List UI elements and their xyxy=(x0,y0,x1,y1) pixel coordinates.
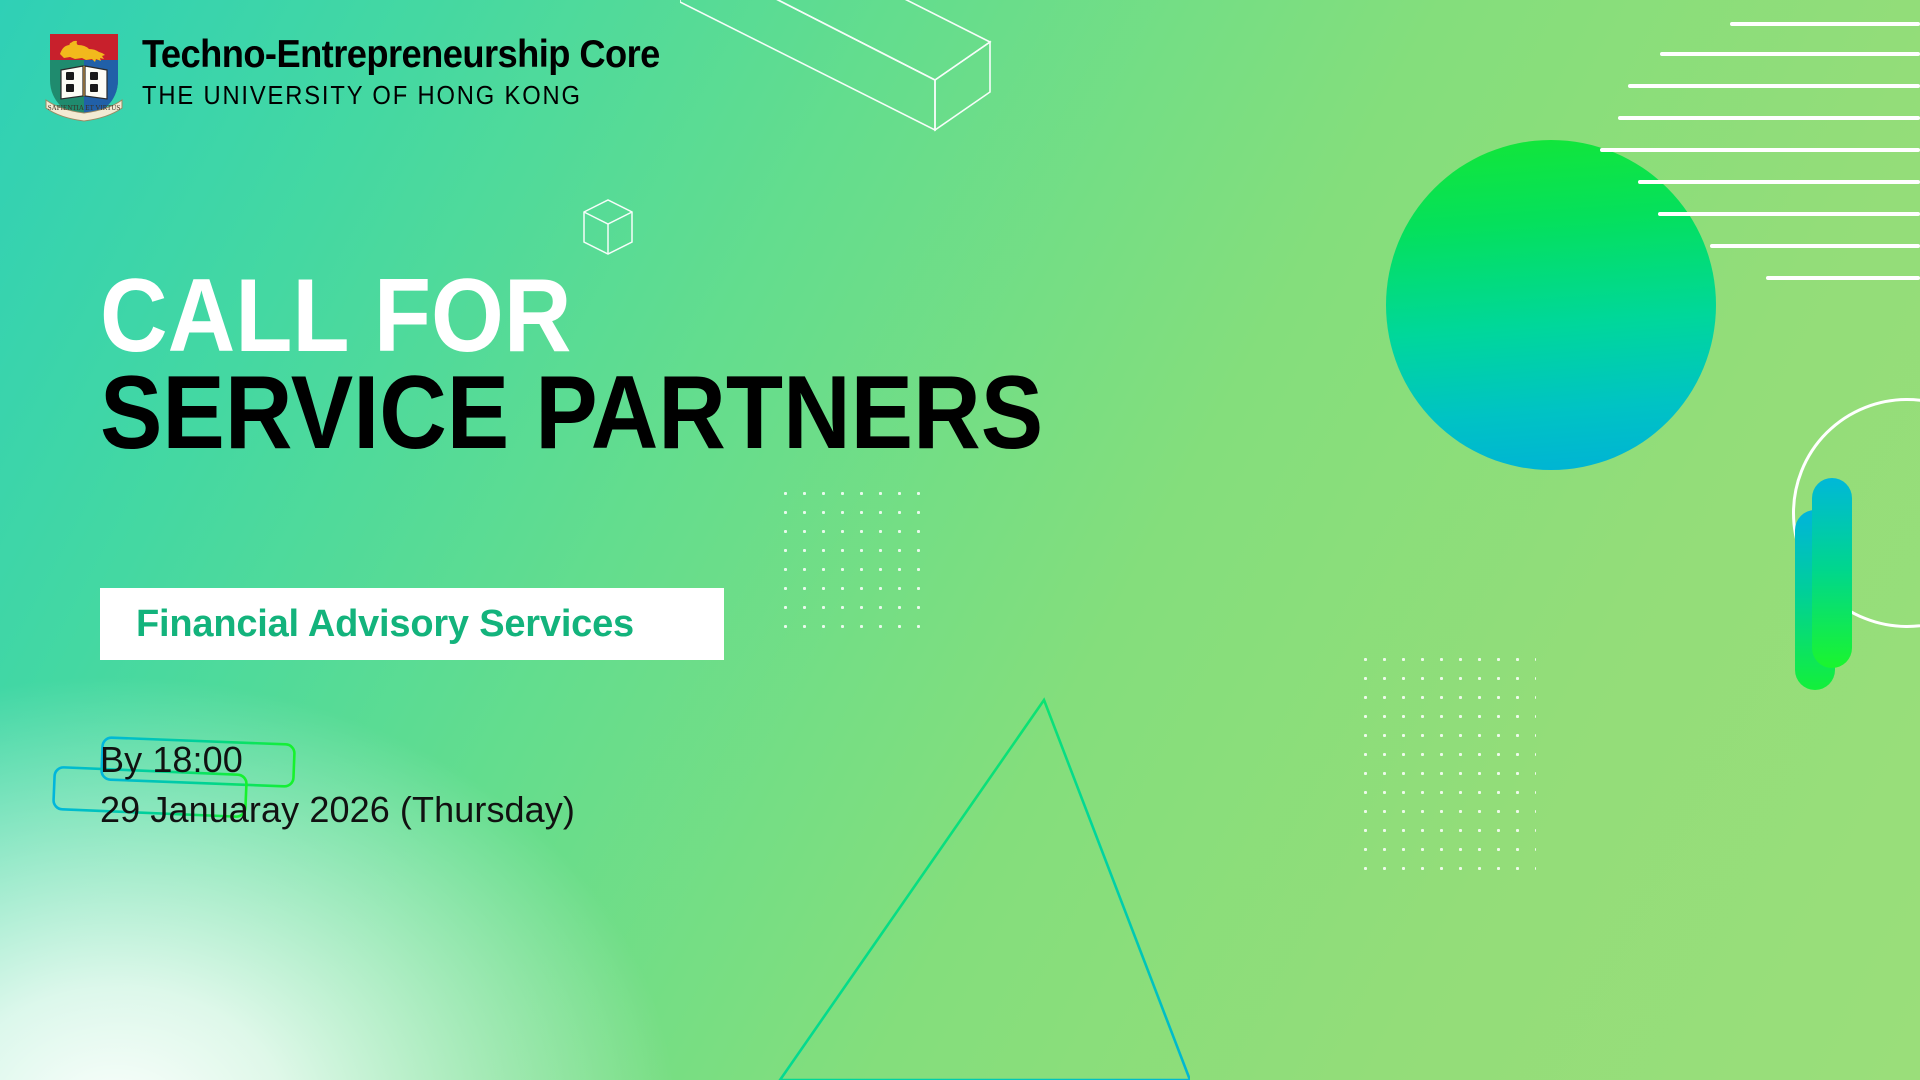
service-category-label: Financial Advisory Services xyxy=(136,603,634,646)
deadline-block: By 18:00 29 Januaray 2026 (Thursday) xyxy=(100,735,575,834)
dot-grid-lower-decoration xyxy=(1356,650,1536,880)
promotional-banner: SAPIENTIA ET VIRTUS Techno-Entrepreneurs… xyxy=(0,0,1920,1080)
brand-logo-text: Techno-Entrepreneurship Core THE UNIVERS… xyxy=(142,30,699,110)
wireframe-cube-decoration xyxy=(576,196,640,260)
deadline-date: 29 Januaray 2026 (Thursday) xyxy=(100,785,575,835)
deadline-time: By 18:00 xyxy=(100,735,575,785)
brand-logo: SAPIENTIA ET VIRTUS Techno-Entrepreneurs… xyxy=(44,30,699,122)
headline-line-1: CALL FOR xyxy=(100,268,1043,365)
service-category-label-box: Financial Advisory Services xyxy=(100,588,724,660)
gradient-circle-decoration xyxy=(1386,140,1716,470)
brand-subtitle: THE UNIVERSITY OF HONG KONG xyxy=(142,82,660,110)
headline-block: CALL FOR SERVICE PARTNERS xyxy=(100,268,1148,461)
horizontal-lines-decoration xyxy=(1480,0,1920,290)
crest-motto-text: SAPIENTIA ET VIRTUS xyxy=(48,104,121,112)
brand-title: Techno-Entrepreneurship Core xyxy=(142,35,660,76)
dot-grid-middle-decoration xyxy=(776,484,928,644)
triangle-outline-decoration xyxy=(770,680,1190,1080)
wireframe-beam-decoration xyxy=(680,0,1080,160)
gradient-bar-front-decoration xyxy=(1812,478,1852,668)
headline-line-2: SERVICE PARTNERS xyxy=(100,365,1043,462)
gradient-bar-back-decoration xyxy=(1795,510,1835,690)
circle-outline-decoration xyxy=(1792,398,1920,628)
hku-crest-icon: SAPIENTIA ET VIRTUS xyxy=(44,30,124,122)
